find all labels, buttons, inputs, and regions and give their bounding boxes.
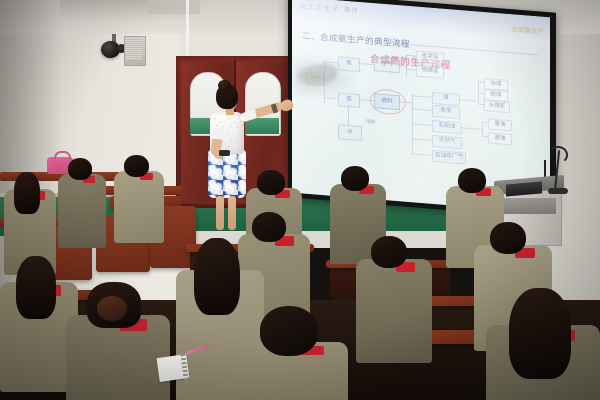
presenter-skirt bbox=[208, 150, 246, 198]
attendee-head bbox=[16, 256, 56, 319]
attendee-uniform bbox=[356, 259, 432, 363]
handbag-handle bbox=[54, 151, 71, 162]
edge-oil-split bbox=[482, 122, 483, 136]
flow-node-oil: 石脑油 bbox=[432, 120, 462, 134]
edge-n2-air bbox=[358, 63, 374, 65]
edge-air-phys bbox=[406, 69, 416, 71]
flow-node-coal: 煤 bbox=[432, 92, 460, 106]
attendee-head bbox=[341, 166, 369, 191]
attendee-head bbox=[124, 155, 149, 177]
flow-node-water: 水 bbox=[338, 124, 362, 141]
podium-panel bbox=[502, 198, 556, 214]
edge-air-split bbox=[406, 55, 407, 77]
flow-node-chem: 化学法 bbox=[416, 51, 444, 65]
edge-coal-stem bbox=[458, 99, 476, 101]
flow-node-residoil: 渣油 bbox=[488, 132, 512, 145]
ceiling-panel bbox=[148, 0, 200, 14]
attendee-head bbox=[458, 168, 486, 193]
door-glass-green-right bbox=[245, 118, 279, 134]
edge-oil-stem bbox=[460, 127, 482, 130]
flow-edge-label-0: 电解 bbox=[366, 119, 375, 126]
attendee-head bbox=[252, 212, 286, 242]
flow-node-refgas: 石油炼厂气 bbox=[432, 150, 466, 165]
edge-fuel-refgas bbox=[412, 153, 432, 155]
attendee-head bbox=[14, 172, 40, 214]
highlight-ring bbox=[370, 88, 406, 116]
edge-fuel-gas bbox=[412, 138, 432, 140]
edge-fuel-coal bbox=[412, 95, 432, 97]
attendee-head bbox=[194, 238, 240, 315]
presenter-hair-bun bbox=[218, 80, 231, 91]
microphone-icon bbox=[548, 146, 568, 164]
attendee-uniform bbox=[114, 171, 164, 243]
flow-node-slurry: 水煤浆 bbox=[484, 100, 510, 113]
attendee-uniform bbox=[58, 174, 106, 248]
flow-node-heavyoil: 重油 bbox=[488, 118, 512, 131]
edge-fuel-coke bbox=[412, 108, 432, 110]
attendee-head bbox=[257, 170, 285, 195]
attendee-head bbox=[490, 222, 526, 254]
attendee-head bbox=[260, 306, 318, 356]
attendee-head bbox=[371, 236, 407, 268]
edge-fuel-split bbox=[412, 94, 413, 154]
attendee-hair-bun bbox=[97, 296, 127, 321]
edge-water-h2 bbox=[348, 105, 349, 125]
flow-node-air: 空气 bbox=[374, 57, 400, 73]
presentation-clicker[interactable] bbox=[219, 150, 230, 156]
flow-node-gas: 天然气 bbox=[432, 135, 462, 149]
classroom-photo: 化工工艺学 课件 合成氨生产 二、合成氨生产的典型流程 合成氨的生产过程 bbox=[0, 0, 600, 400]
presenter-leg-right bbox=[228, 196, 236, 230]
flow-node-coke: 焦炭 bbox=[432, 105, 460, 119]
speaker-grill bbox=[126, 39, 142, 60]
flow-node-phys: 物理法 bbox=[416, 65, 444, 79]
presenter-leg-left bbox=[216, 196, 224, 230]
microphone-base bbox=[548, 188, 568, 194]
edge-fuel-oil bbox=[412, 123, 432, 125]
attendee-head bbox=[509, 288, 571, 379]
attendee-head bbox=[68, 158, 92, 180]
